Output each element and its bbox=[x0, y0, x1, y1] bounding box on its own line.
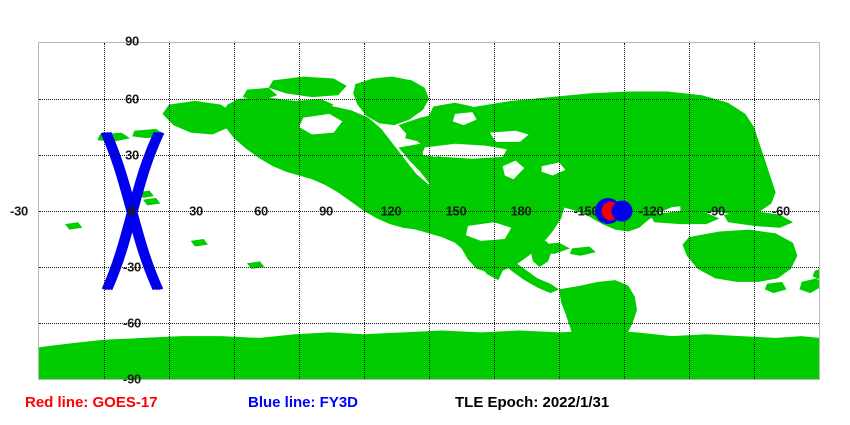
map-clip-region bbox=[39, 43, 819, 379]
lon-tick-150: 150 bbox=[446, 205, 467, 218]
lat-tick-60: 60 bbox=[125, 93, 139, 106]
lat-tick-30: 30 bbox=[125, 149, 139, 162]
legend-tle-epoch: TLE Epoch: 2022/1/31 bbox=[455, 392, 609, 414]
lat-tick--90: -90 bbox=[123, 373, 141, 386]
ground-track-figure: -30 0 30 60 90 120 150 180 -150 -120 -90… bbox=[0, 0, 850, 425]
lon-tick--60: -60 bbox=[772, 205, 790, 218]
lon-tick--90: -90 bbox=[707, 205, 725, 218]
lon-tick-120: 120 bbox=[381, 205, 402, 218]
lon-tick-180: 180 bbox=[511, 205, 532, 218]
world-map-panel: -30 0 30 60 90 120 150 180 -150 -120 -90… bbox=[38, 42, 820, 380]
fy3d-marker-overlay bbox=[612, 201, 633, 222]
lon-tick--120: -120 bbox=[639, 205, 664, 218]
lat-tick--30: -30 bbox=[123, 261, 141, 274]
lat-tick-0: 0 bbox=[129, 205, 136, 218]
lat-tick--60: -60 bbox=[123, 317, 141, 330]
lat-tick-90: 90 bbox=[125, 35, 139, 48]
lon-tick--30: -30 bbox=[10, 205, 28, 218]
legend-red-line-goes17: Red line: GOES-17 bbox=[25, 392, 158, 414]
lon-tick-60: 60 bbox=[254, 205, 268, 218]
lon-tick-30: 30 bbox=[189, 205, 203, 218]
figure-legend-row: Red line: GOES-17 Blue line: FY3D TLE Ep… bbox=[0, 392, 850, 425]
legend-blue-line-fy3d: Blue line: FY3D bbox=[248, 392, 358, 414]
lon-tick-90: 90 bbox=[319, 205, 333, 218]
fy3d-ground-track-layer bbox=[39, 43, 819, 379]
